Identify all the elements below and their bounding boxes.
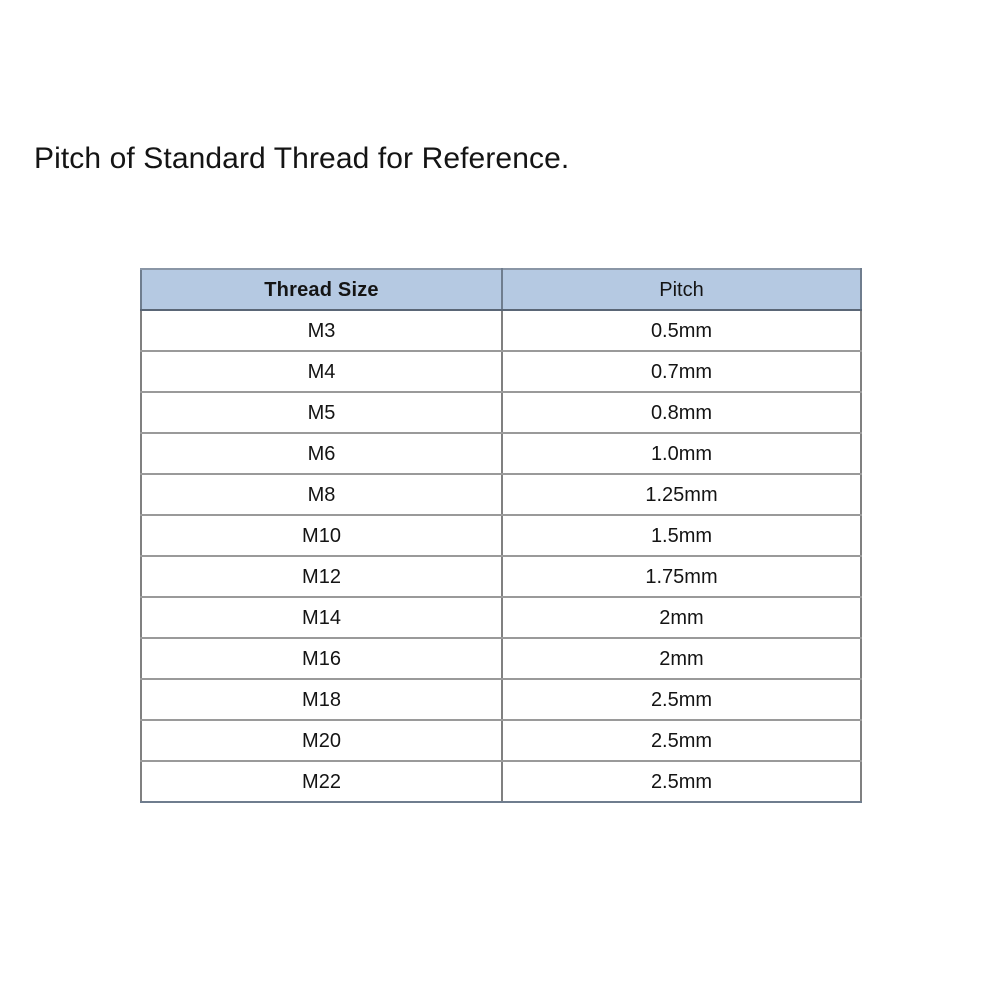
cell-pitch: 0.7mm — [502, 351, 861, 392]
cell-pitch: 0.5mm — [502, 310, 861, 351]
cell-pitch: 2.5mm — [502, 720, 861, 761]
table-row: M202.5mm — [141, 720, 861, 761]
cell-thread-size: M5 — [141, 392, 502, 433]
cell-thread-size: M14 — [141, 597, 502, 638]
cell-pitch: 2mm — [502, 638, 861, 679]
cell-thread-size: M6 — [141, 433, 502, 474]
table-row: M162mm — [141, 638, 861, 679]
table-header: Thread Size Pitch — [141, 269, 861, 310]
table-row: M30.5mm — [141, 310, 861, 351]
cell-pitch: 2mm — [502, 597, 861, 638]
table-row: M222.5mm — [141, 761, 861, 802]
cell-pitch: 1.25mm — [502, 474, 861, 515]
cell-thread-size: M4 — [141, 351, 502, 392]
thread-pitch-table: Thread Size Pitch M30.5mmM40.7mmM50.8mmM… — [140, 268, 862, 803]
cell-thread-size: M8 — [141, 474, 502, 515]
table-body: M30.5mmM40.7mmM50.8mmM61.0mmM81.25mmM101… — [141, 310, 861, 802]
table-row: M61.0mm — [141, 433, 861, 474]
page-root: Pitch of Standard Thread for Reference. … — [0, 0, 1000, 1000]
table-row: M142mm — [141, 597, 861, 638]
cell-thread-size: M12 — [141, 556, 502, 597]
table-row: M182.5mm — [141, 679, 861, 720]
cell-thread-size: M3 — [141, 310, 502, 351]
cell-pitch: 0.8mm — [502, 392, 861, 433]
cell-pitch: 1.0mm — [502, 433, 861, 474]
table-row: M50.8mm — [141, 392, 861, 433]
cell-thread-size: M10 — [141, 515, 502, 556]
cell-thread-size: M18 — [141, 679, 502, 720]
cell-pitch: 2.5mm — [502, 761, 861, 802]
table-header-row: Thread Size Pitch — [141, 269, 861, 310]
table-row: M40.7mm — [141, 351, 861, 392]
cell-pitch: 1.5mm — [502, 515, 861, 556]
table-row: M121.75mm — [141, 556, 861, 597]
table-row: M81.25mm — [141, 474, 861, 515]
cell-thread-size: M16 — [141, 638, 502, 679]
cell-pitch: 1.75mm — [502, 556, 861, 597]
cell-thread-size: M22 — [141, 761, 502, 802]
cell-thread-size: M20 — [141, 720, 502, 761]
page-title: Pitch of Standard Thread for Reference. — [34, 141, 569, 177]
cell-pitch: 2.5mm — [502, 679, 861, 720]
table-row: M101.5mm — [141, 515, 861, 556]
column-header-thread-size: Thread Size — [141, 269, 502, 310]
column-header-pitch: Pitch — [502, 269, 861, 310]
